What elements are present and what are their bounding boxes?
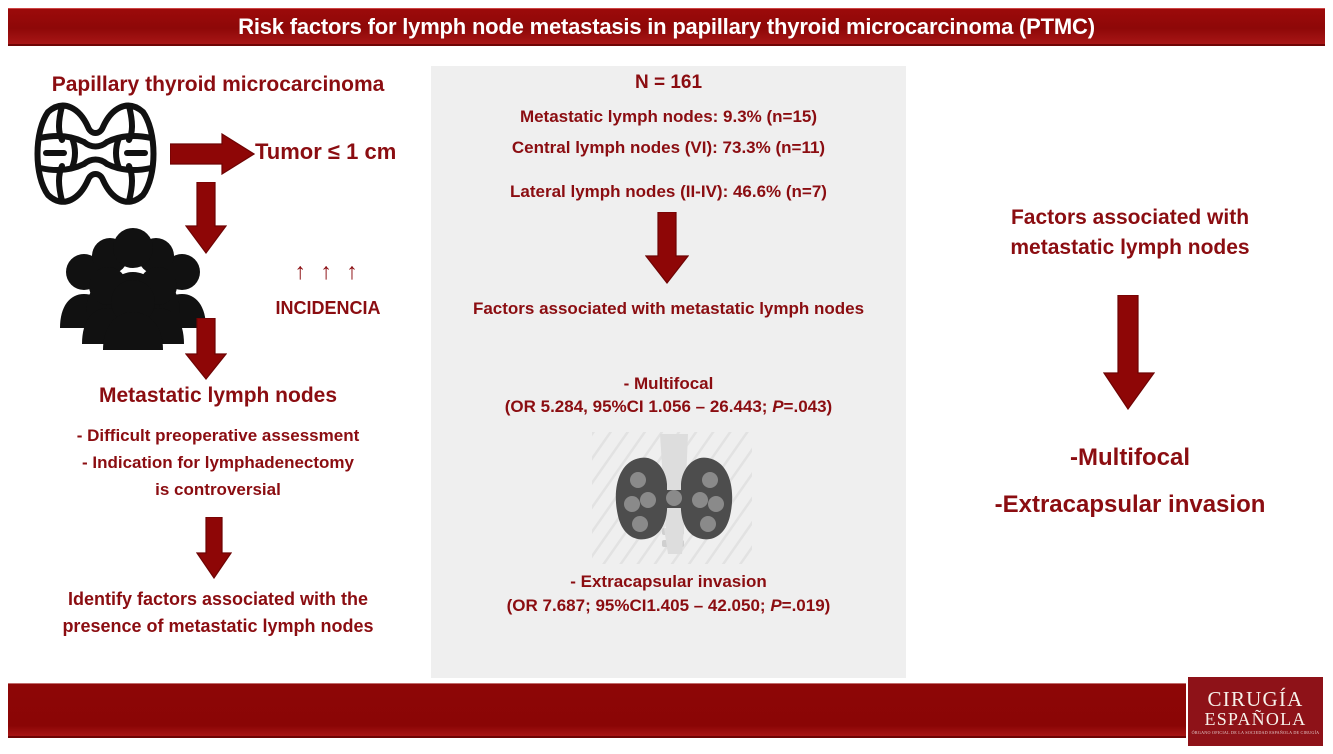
incidence-label: INCIDENCIA: [258, 297, 398, 320]
multifocal-stat-suffix: =.043): [784, 397, 833, 416]
factor-multifocal-name: - Multifocal: [431, 373, 906, 395]
journal-logo-subtitle: ÓRGANO OFICIAL DE LA SOCIEDAD ESPAÑOLA D…: [1192, 731, 1320, 735]
thyroid-outline-icon: [28, 98, 163, 208]
factor-extracapsular-name: - Extracapsular invasion: [431, 571, 906, 593]
extracapsular-p-symbol: P: [770, 596, 781, 615]
stat-line-2: Central lymph nodes (VI): 73.3% (n=11): [431, 137, 906, 159]
tumor-size-label: Tumor ≤ 1 cm: [255, 138, 435, 166]
objective-line-1: Identify factors associated with the: [18, 588, 418, 611]
conclusion-multifocal: -Multifocal: [960, 443, 1300, 474]
extracapsular-stat-suffix: =.019): [782, 596, 831, 615]
objective-line-2: presence of metastatic lymph nodes: [18, 615, 418, 638]
stat-line-3: Lateral lymph nodes (II-IV): 46.6% (n=7): [431, 181, 906, 203]
thyroid-gland-icon: [592, 432, 752, 564]
conclusion-extracapsular: -Extracapsular invasion: [940, 490, 1320, 521]
sample-size-label: N = 161: [431, 71, 906, 95]
arrow-down-icon-left-3: [196, 517, 232, 579]
center-factors-heading: Factors associated with metastatic lymph…: [431, 298, 906, 320]
arrow-down-icon-center: [645, 212, 689, 284]
page-title: Risk factors for lymph node metastasis i…: [238, 14, 1095, 40]
multifocal-stat-prefix: (OR 5.284, 95%CI 1.056 – 26.443;: [505, 397, 772, 416]
incidence-up-arrows: ↑ ↑ ↑: [268, 258, 388, 285]
left-column-heading: Papillary thyroid microcarcinoma: [18, 72, 418, 99]
stat-line-1: Metastatic lymph nodes: 9.3% (n=15): [431, 106, 906, 128]
journal-logo-line-1: CIRUGÍA: [1208, 688, 1304, 710]
extracapsular-stat-prefix: (OR 7.687; 95%CI1.405 – 42.050;: [507, 596, 771, 615]
arrow-right-icon: [170, 133, 255, 175]
factor-extracapsular-stats: (OR 7.687; 95%CI1.405 – 42.050; P=.019): [431, 595, 906, 617]
left-bullet-1: - Difficult preoperative assessment: [18, 425, 418, 447]
journal-logo-line-2: ESPAÑOLA: [1205, 710, 1307, 730]
left-bullet-3: is controversial: [18, 479, 418, 501]
arrow-down-icon-left-2: [185, 318, 227, 380]
factor-multifocal-stats: (OR 5.284, 95%CI 1.056 – 26.443; P=.043): [431, 396, 906, 418]
header-title-bar: Risk factors for lymph node metastasis i…: [8, 8, 1325, 46]
right-column-heading-line-2: metastatic lymph nodes: [960, 235, 1300, 262]
journal-logo: CIRUGÍA ESPAÑOLA ÓRGANO OFICIAL DE LA SO…: [1186, 675, 1325, 748]
arrow-down-icon-right: [1103, 295, 1155, 410]
metastatic-lymph-nodes-heading: Metastatic lymph nodes: [18, 383, 418, 410]
left-bullet-2: - Indication for lymphadenectomy: [18, 452, 418, 474]
footer-bar: [8, 683, 1325, 738]
right-column-heading-line-1: Factors associated with: [960, 205, 1300, 232]
multifocal-p-symbol: P: [772, 397, 783, 416]
